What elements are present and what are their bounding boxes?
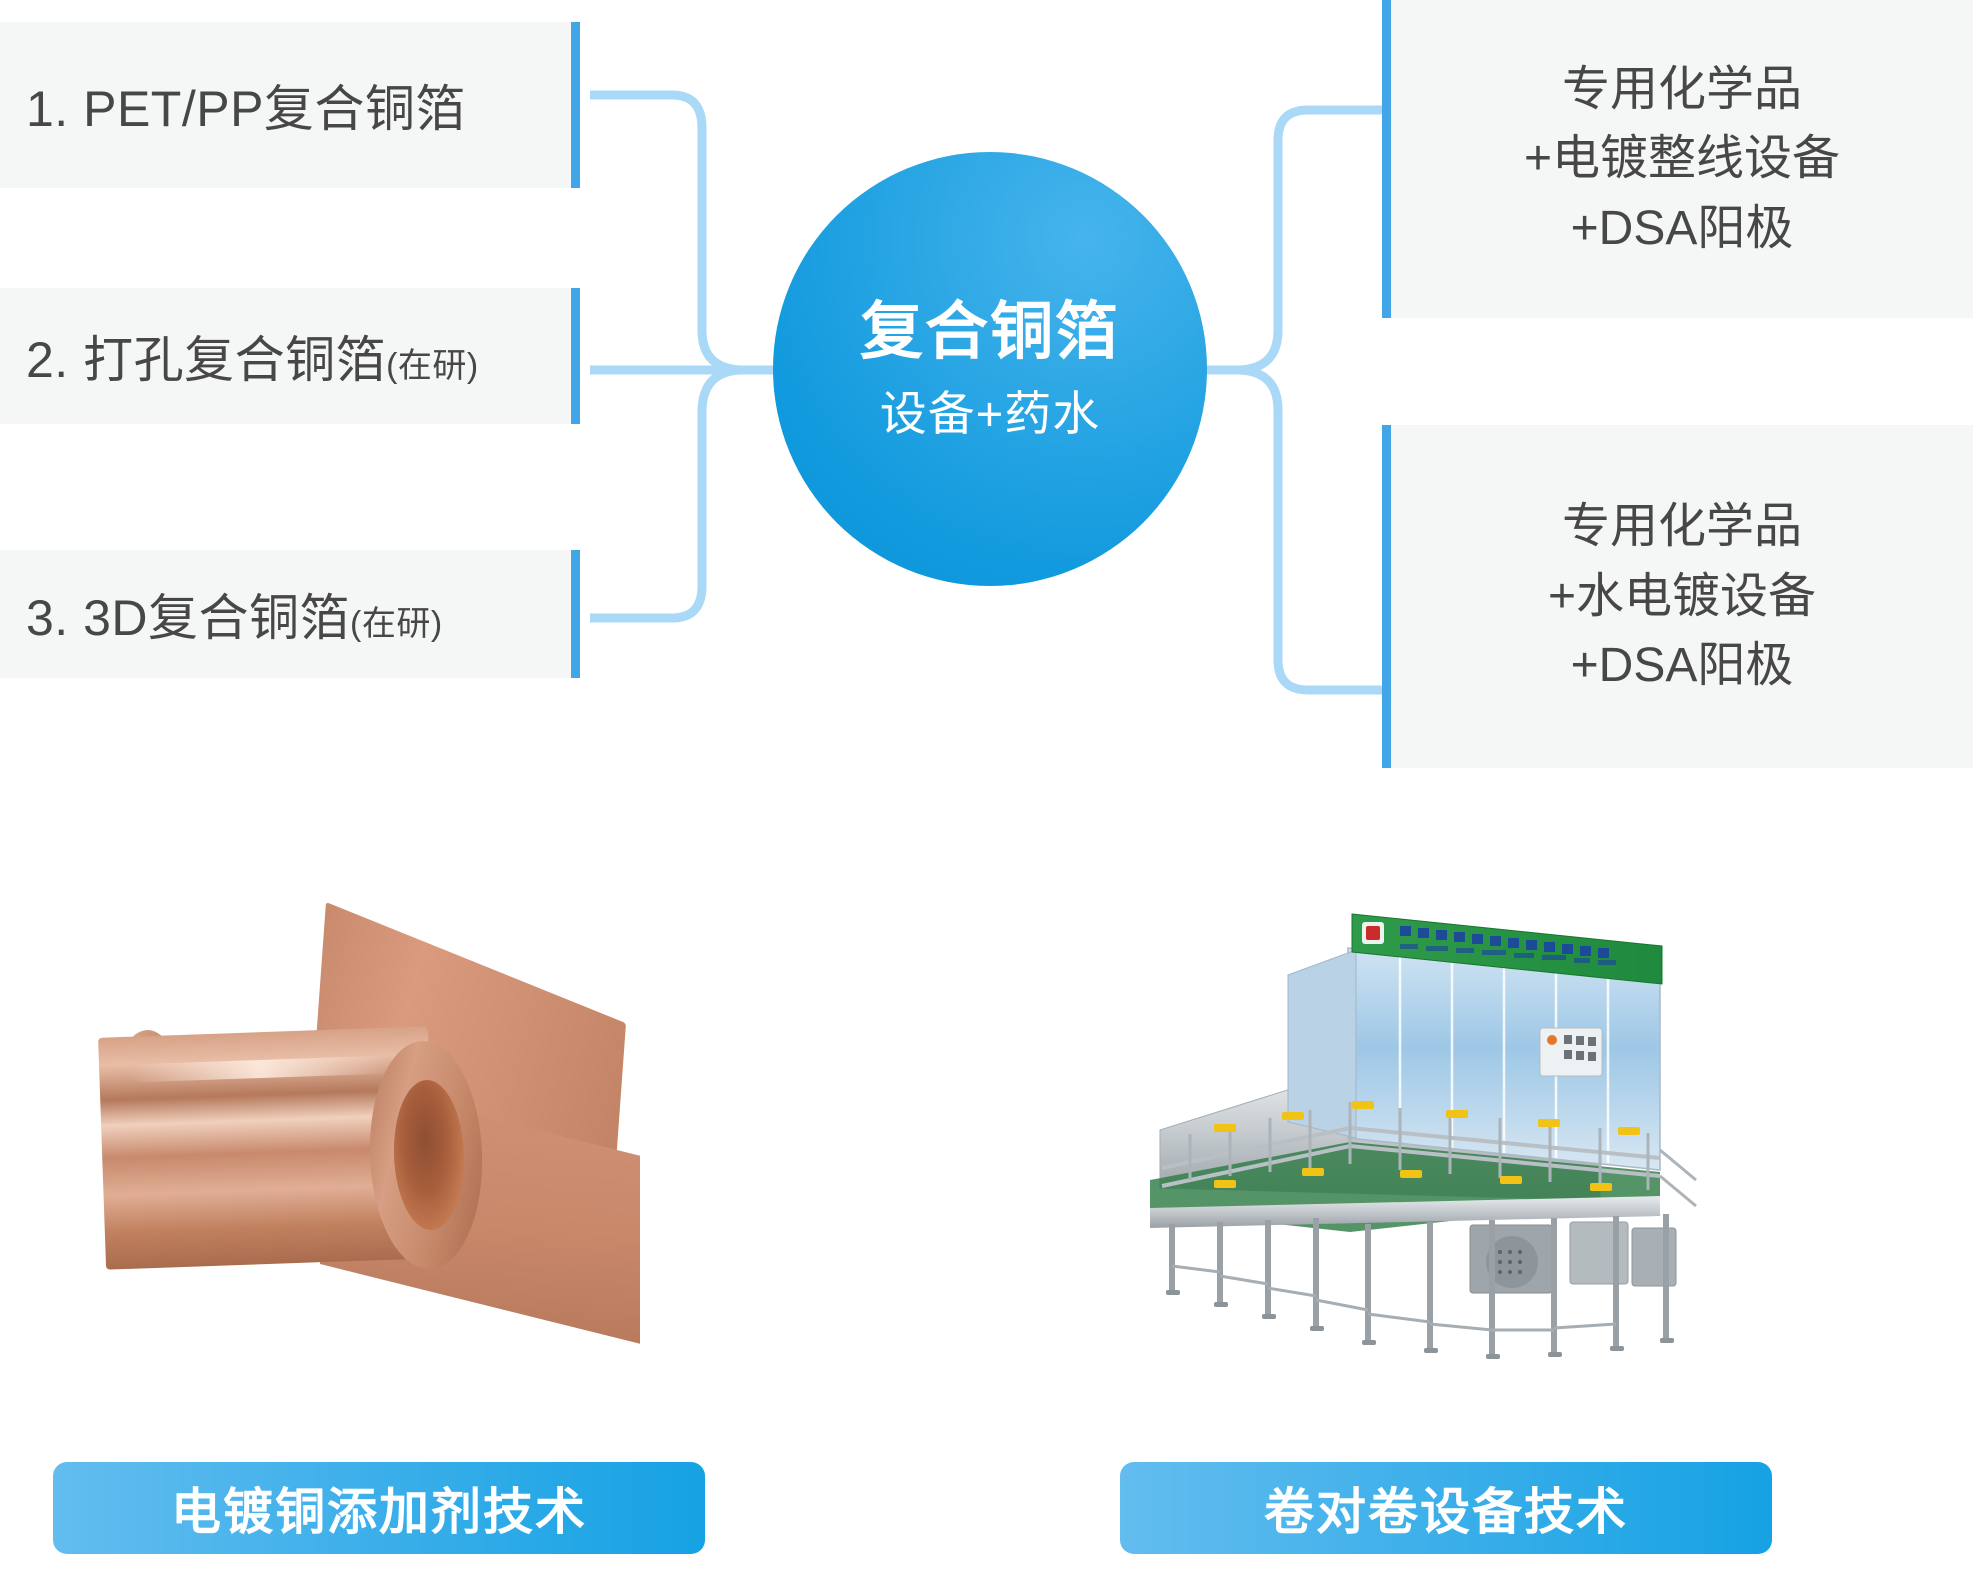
copper-foil-roll-image bbox=[70, 880, 690, 1380]
caption-text-left: 电镀铜添加剂技术 bbox=[171, 1472, 587, 1544]
left-branch-box-3[interactable]: 3. 3D复合铜箔(在研) bbox=[0, 550, 580, 678]
right-branch-1-line-2: +电镀整线设备 bbox=[1524, 124, 1840, 194]
connector-left-3 bbox=[590, 370, 740, 618]
connector-left-1 bbox=[590, 95, 740, 370]
equipment-line-drawing bbox=[1100, 880, 1700, 1380]
diagram-canvas: 1. PET/PP复合铜箔 2. 打孔复合铜箔(在研) 3. 3D复合铜箔(在研… bbox=[0, 0, 1973, 1571]
caption-text-right: 卷对卷设备技术 bbox=[1264, 1472, 1628, 1544]
right-branch-1-line-3: +DSA阳极 bbox=[1571, 194, 1794, 264]
right-branch-box-2[interactable]: 专用化学品 +水电镀设备 +DSA阳极 bbox=[1382, 425, 1973, 768]
caption-pill-roll-to-roll[interactable]: 卷对卷设备技术 bbox=[1120, 1462, 1772, 1554]
right-branch-1-line-1: 专用化学品 bbox=[1562, 55, 1802, 125]
left-branch-box-2[interactable]: 2. 打孔复合铜箔(在研) bbox=[0, 288, 580, 424]
right-branch-box-1[interactable]: 专用化学品 +电镀整线设备 +DSA阳极 bbox=[1382, 0, 1973, 318]
right-branch-2-line-2: +水电镀设备 bbox=[1548, 562, 1816, 632]
left-branch-label-2: 2. 打孔复合铜箔(在研) bbox=[0, 320, 479, 392]
left-branch-note-3: (在研) bbox=[350, 605, 443, 643]
connector-right-1 bbox=[1240, 110, 1386, 370]
left-branch-label-3: 3. 3D复合铜箔(在研) bbox=[0, 578, 443, 650]
left-branch-label-1: 1. PET/PP复合铜箔 bbox=[0, 69, 466, 141]
left-branch-note-2: (在研) bbox=[386, 347, 479, 385]
hub-title: 复合铜箔 bbox=[860, 301, 1120, 364]
connector-right-2 bbox=[1240, 370, 1386, 690]
left-branch-box-1[interactable]: 1. PET/PP复合铜箔 bbox=[0, 22, 580, 188]
caption-pill-electroplating[interactable]: 电镀铜添加剂技术 bbox=[53, 1462, 705, 1554]
center-hub-circle[interactable]: 复合铜箔 设备+药水 bbox=[773, 152, 1207, 586]
hub-subtitle: 设备+药水 bbox=[880, 390, 1100, 437]
roll-to-roll-equipment-image bbox=[1100, 880, 1700, 1380]
right-branch-2-line-1: 专用化学品 bbox=[1562, 492, 1802, 562]
right-branch-2-line-3: +DSA阳极 bbox=[1571, 631, 1794, 701]
